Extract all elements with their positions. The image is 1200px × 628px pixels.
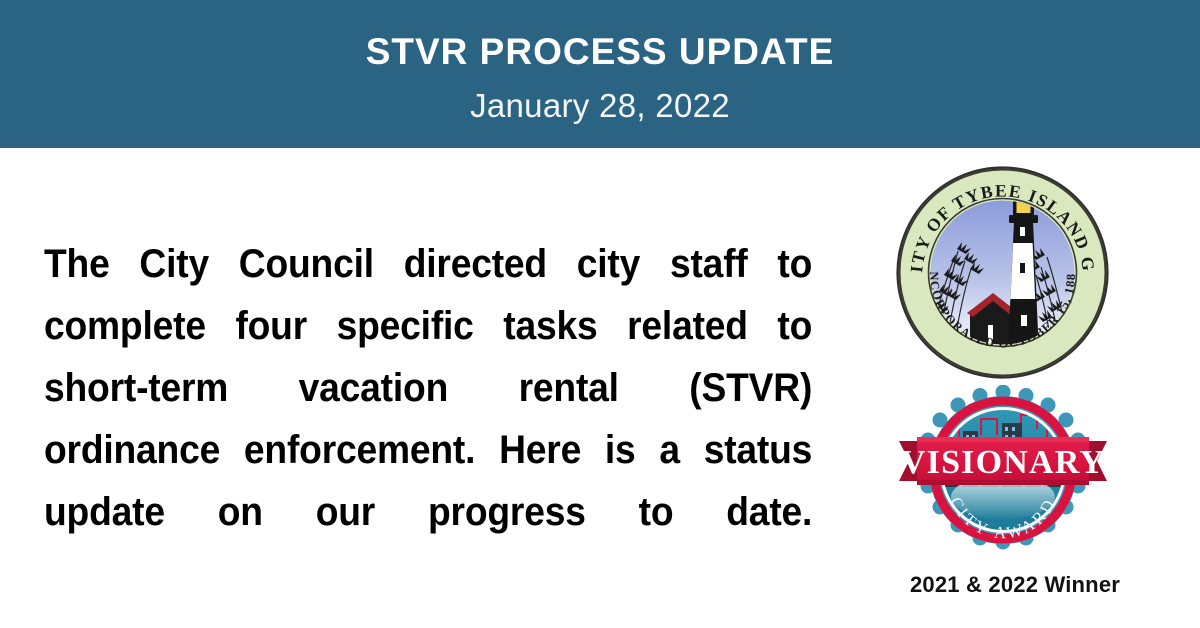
body-paragraph: The City Council directed city staff to … xyxy=(44,233,812,605)
city-seal-icon: CITY OF TYBEE ISLAND GA INCORPORATED OCT… xyxy=(895,165,1110,380)
header-band: STVR PROCESS UPDATE January 28, 2022 xyxy=(0,0,1200,148)
badge-banner: VISIONARY xyxy=(899,437,1107,485)
infographic-page: STVR PROCESS UPDATE January 28, 2022 The… xyxy=(0,0,1200,628)
header-date: January 28, 2022 xyxy=(470,89,730,122)
visionary-award-icon: CITY AWARD VISIONARY xyxy=(897,385,1109,560)
page-title: STVR PROCESS UPDATE xyxy=(366,33,835,70)
award-winner-caption: 2021 & 2022 Winner xyxy=(880,572,1150,598)
logo-column: CITY OF TYBEE ISLAND GA INCORPORATED OCT… xyxy=(880,150,1200,628)
badge-banner-text: VISIONARY xyxy=(901,444,1105,481)
